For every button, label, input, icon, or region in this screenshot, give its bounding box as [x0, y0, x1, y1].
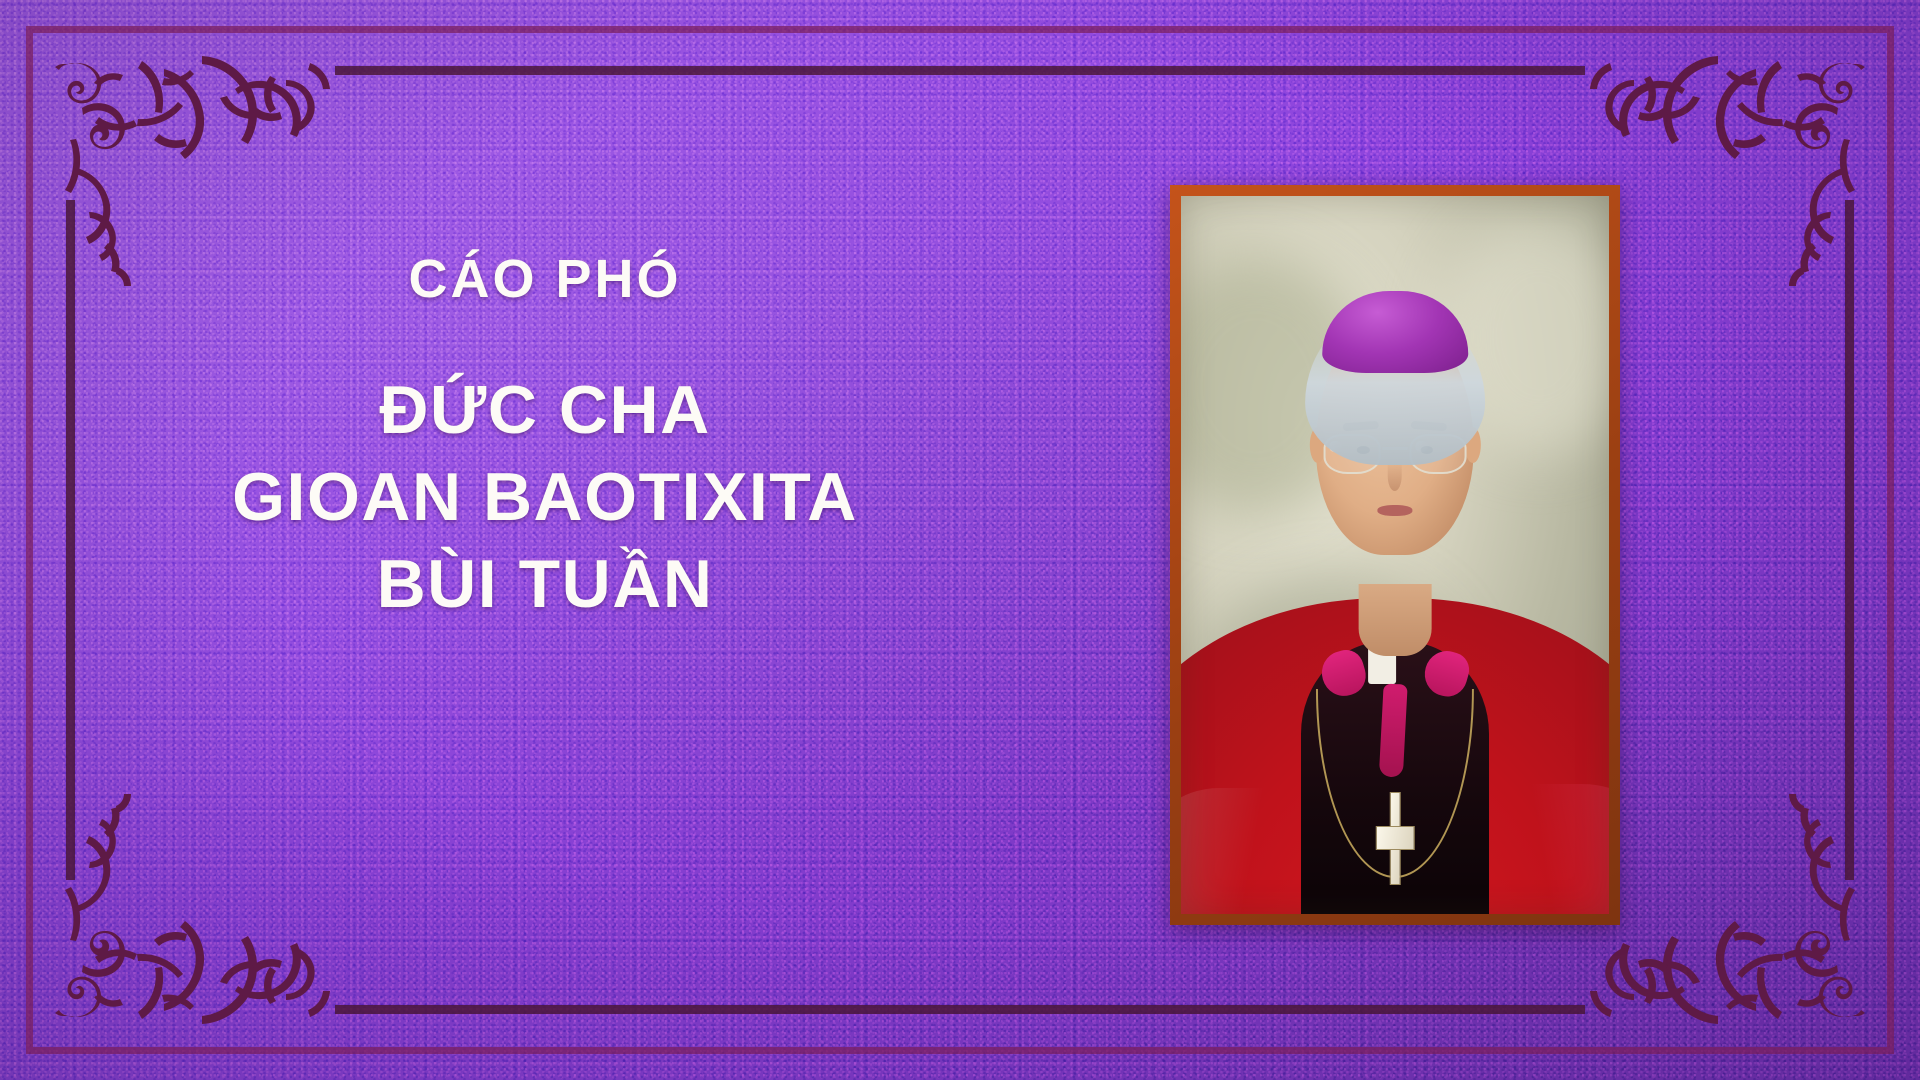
neck [1359, 584, 1432, 656]
deceased-name: ĐỨC CHA GIOAN BAOTIXITA BÙI TUẦN [70, 367, 1020, 628]
frame-inner-line-bottom [335, 1005, 1585, 1014]
mozzetta-highlight-right [1502, 784, 1609, 914]
mouth [1378, 505, 1413, 516]
name-line-2: GIOAN BAOTIXITA [70, 454, 1020, 541]
corner-ornament-top-right-icon [1588, 42, 1878, 292]
cross-horizontal-bar [1376, 826, 1415, 850]
bishop-portrait-photo [1181, 196, 1609, 914]
corner-ornament-bottom-left-icon [42, 788, 332, 1038]
portrait-photo-frame [1170, 185, 1620, 925]
announcement-text-block: CÁO PHÓ ĐỨC CHA GIOAN BAOTIXITA BÙI TUẦN [70, 250, 1020, 628]
mozzetta-highlight-left [1181, 788, 1293, 914]
name-line-3: BÙI TUẦN [70, 541, 1020, 628]
frame-inner-line-top [335, 66, 1585, 75]
corner-ornament-bottom-right-icon [1588, 788, 1878, 1038]
memorial-poster: CÁO PHÓ ĐỨC CHA GIOAN BAOTIXITA BÙI TUẦN [0, 0, 1920, 1080]
frame-inner-line-right [1845, 200, 1854, 880]
pectoral-cross-icon [1376, 792, 1415, 885]
name-line-1: ĐỨC CHA [70, 367, 1020, 454]
announcement-kicker: CÁO PHÓ [70, 250, 1020, 309]
